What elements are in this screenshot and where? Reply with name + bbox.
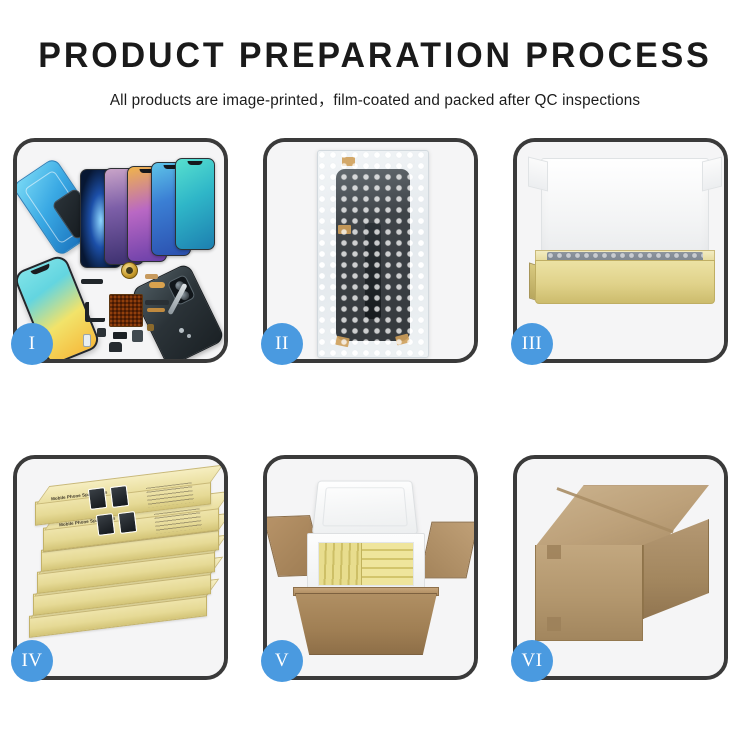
process-step-1[interactable]: I <box>13 138 228 363</box>
tape-4-icon <box>395 334 410 346</box>
camera-module-icon <box>109 342 122 352</box>
process-step-2[interactable]: II <box>263 138 478 363</box>
flex-ribbon-right-icon <box>145 300 169 305</box>
chip-1-icon <box>97 328 106 337</box>
yellow-boxes-vertical <box>319 543 362 585</box>
screw-1-icon <box>179 328 184 333</box>
step-badge-5: V <box>261 640 303 682</box>
box-product-image-1 <box>88 487 107 510</box>
gold-ribbon-icon <box>147 308 165 312</box>
step-4-image: Mobile Phone Spare Parts Mobile Phone Sp… <box>17 459 224 676</box>
carton-tape-top-icon <box>547 545 561 559</box>
yellow-boxes-horizontal <box>362 543 413 585</box>
bubble-wrap-bag-icon <box>317 150 429 358</box>
process-row-1: I II <box>13 138 738 363</box>
chip-4-icon <box>147 324 154 331</box>
tape-2-icon <box>338 225 351 234</box>
step-badge-1: I <box>11 323 53 365</box>
lid-flap-left-icon <box>528 157 548 192</box>
box-product-image-2 <box>110 485 129 508</box>
kraft-box-body-icon <box>535 260 715 304</box>
process-step-4[interactable]: Mobile Phone Spare Parts Mobile Phone Sp… <box>13 455 228 680</box>
step-badge-4: IV <box>11 640 53 682</box>
phone-display-fan <box>77 156 224 261</box>
page-header: PRODUCT PREPARATION PROCESS All products… <box>0 0 750 110</box>
step-1-image <box>17 142 224 359</box>
step-6-image <box>517 459 724 676</box>
carton-tape-bottom-icon <box>547 617 561 631</box>
retail-box-stack: Mobile Phone Spare Parts Mobile Phone Sp… <box>27 477 223 667</box>
tape-3-icon <box>335 336 350 348</box>
foam-lid-icon <box>312 481 418 535</box>
foam-box-icon <box>307 533 425 595</box>
step-5-image <box>267 459 474 676</box>
step-badge-3: III <box>511 323 553 365</box>
carton-flap-right-icon <box>419 522 474 579</box>
page-title: PRODUCT PREPARATION PROCESS <box>11 38 739 75</box>
tape-1-icon <box>342 157 355 166</box>
speaker-module-icon <box>121 262 138 279</box>
chip-3-icon <box>132 330 143 342</box>
connector-icon <box>149 282 165 288</box>
flex-ribbon-left-icon <box>85 302 105 322</box>
lid-flap-right-icon <box>702 157 722 192</box>
chip-2-icon <box>113 332 127 339</box>
process-step-3[interactable]: III <box>513 138 728 363</box>
step-2-image <box>267 142 474 359</box>
step-badge-2: II <box>261 323 303 365</box>
spare-parts-cluster <box>87 262 197 357</box>
carton-edge-icon <box>642 545 644 619</box>
process-step-5[interactable]: V <box>263 455 478 680</box>
circuit-board-icon <box>109 294 143 327</box>
page-subtitle: All products are image-printed，film-coat… <box>6 88 745 110</box>
carton-front-icon <box>295 593 437 655</box>
battery-connector-icon <box>83 334 91 347</box>
screw-2-icon <box>187 334 191 338</box>
foam-box-contents <box>318 542 414 586</box>
wrapped-flex-cable-icon <box>365 223 381 319</box>
process-row-2: Mobile Phone Spare Parts Mobile Phone Sp… <box>13 455 738 680</box>
process-steps-grid: I II <box>13 138 738 680</box>
box-product-image-4 <box>118 511 137 534</box>
tweezers-icon <box>167 283 187 315</box>
step-3-image <box>517 142 724 359</box>
flex-cable-icon <box>81 279 103 284</box>
step-badge-6: VI <box>511 640 553 682</box>
gold-contact-icon <box>145 274 158 279</box>
process-step-6[interactable]: VI <box>513 455 728 680</box>
box-product-image-3 <box>96 513 115 536</box>
phone-display-1-icon <box>175 158 215 250</box>
